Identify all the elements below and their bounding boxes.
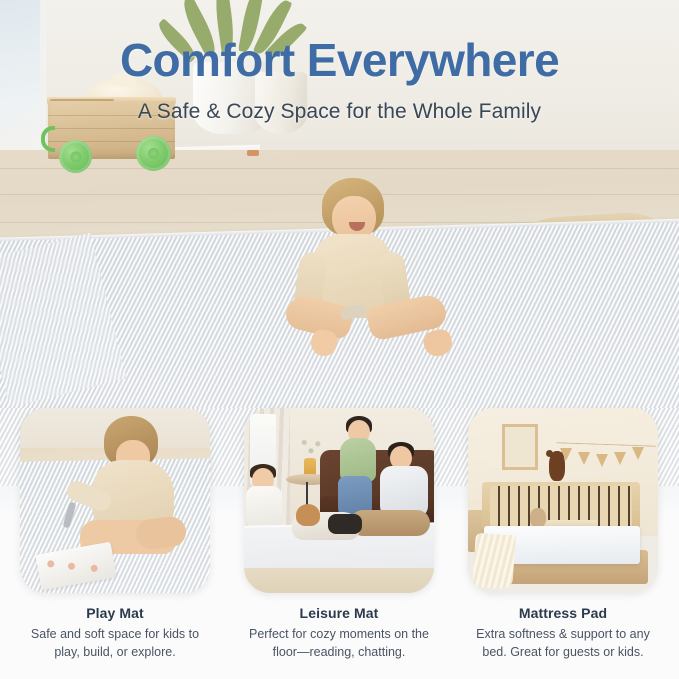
product-infographic: Comfort Everywhere A Safe & Cozy Space f… [0, 0, 679, 679]
mattress-pad-thumbnail[interactable] [468, 408, 658, 593]
hero-lifestyle-image: Comfort Everywhere A Safe & Cozy Space f… [0, 0, 679, 412]
card-title: Leisure Mat [246, 605, 432, 621]
page-subtitle: A Safe & Cozy Space for the Whole Family [0, 100, 679, 124]
card-title: Play Mat [22, 605, 208, 621]
leisure-mat-thumbnail[interactable] [244, 408, 434, 593]
thumb3-blanket [472, 533, 516, 590]
feature-card-strip: Play Mat Safe and soft space for kids to… [0, 408, 679, 679]
feature-card-leisure-mat[interactable]: Leisure Mat Perfect for cozy moments on … [244, 408, 434, 661]
card-description: Safe and soft space for kids to play, bu… [22, 626, 208, 661]
feature-card-play-mat[interactable]: Play Mat Safe and soft space for kids to… [20, 408, 210, 661]
thumb3-teddy-bear [530, 508, 546, 528]
hero-text-block: Comfort Everywhere A Safe & Cozy Space f… [0, 36, 679, 124]
play-mat-caption: Play Mat Safe and soft space for kids to… [20, 605, 210, 661]
mattress-pad-caption: Mattress Pad Extra softness & support to… [468, 605, 658, 661]
card-description: Perfect for cozy moments on the floor—re… [246, 626, 432, 661]
leisure-mat-caption: Leisure Mat Perfect for cozy moments on … [244, 605, 434, 661]
page-title: Comfort Everywhere [0, 36, 679, 86]
card-description: Extra softness & support to any bed. Gre… [470, 626, 656, 661]
wagon-wheel-front [59, 140, 92, 173]
play-mat-thumbnail[interactable] [20, 408, 210, 593]
thumb3-wall-art [502, 424, 538, 470]
wagon-wheel-back [136, 136, 171, 171]
card-title: Mattress Pad [470, 605, 656, 621]
toy-block [247, 150, 259, 156]
feature-card-mattress-pad[interactable]: Mattress Pad Extra softness & support to… [468, 408, 658, 661]
